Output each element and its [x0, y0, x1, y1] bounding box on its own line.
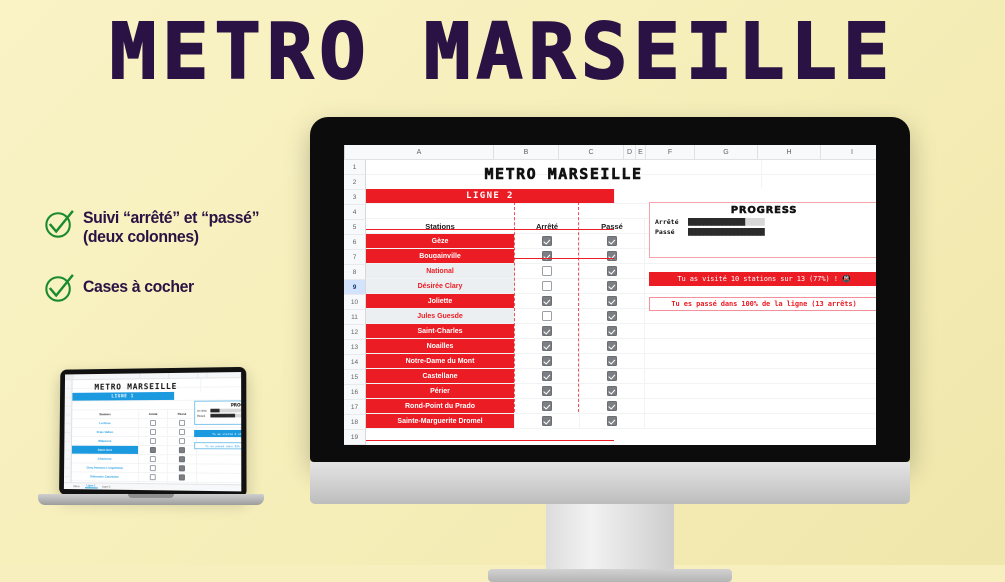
mini-row-header[interactable] — [65, 398, 73, 407]
station-name-cell[interactable]: Gèze — [366, 234, 515, 248]
mini-row-header[interactable] — [64, 442, 72, 451]
row-header-19[interactable]: 19 — [344, 430, 366, 445]
checkbox-icon[interactable] — [607, 356, 617, 366]
station-row: Castellane — [366, 369, 876, 384]
mini-passe-checkbox-cell[interactable] — [168, 437, 197, 445]
mini-arrete-checkbox-cell[interactable] — [139, 464, 168, 472]
mini-progress-title: PROGRESS — [197, 402, 241, 408]
checkbox-icon[interactable] — [150, 420, 156, 426]
progress-bar-filled: ██████ — [210, 409, 219, 413]
mini-sheet-tab[interactable]: Ligne 2 — [100, 485, 112, 488]
laptop-mockup: METRO MARSEILLE LIGNE 1 Stations Arrêté … — [24, 368, 274, 533]
header-stations[interactable]: Stations — [366, 219, 515, 233]
checkbox-icon[interactable] — [607, 236, 617, 246]
checkbox-icon[interactable] — [542, 341, 552, 351]
mini-row-header[interactable] — [64, 424, 72, 433]
checkbox-icon[interactable] — [607, 311, 617, 321]
passe-checkbox-cell[interactable] — [580, 384, 645, 398]
mini-arrete-checkbox-cell[interactable] — [139, 455, 168, 463]
mini-progress-panel: PROGRESS Arrêté████████████████████Passé… — [194, 400, 241, 425]
checkbox-icon[interactable] — [542, 296, 552, 306]
checkbox-icon[interactable] — [607, 386, 617, 396]
progress-label: Passé — [197, 414, 210, 417]
station-name-cell[interactable]: Noailles — [366, 339, 515, 353]
mini-grid: METRO MARSEILLE LIGNE 1 Stations Arrêté … — [64, 378, 241, 491]
row-header-5[interactable]: 5 — [344, 220, 366, 235]
column-header-e[interactable]: E — [636, 145, 646, 159]
checkbox-icon[interactable] — [542, 236, 552, 246]
column-header-f[interactable]: F — [646, 145, 695, 159]
station-name-cell[interactable]: Rond-Point du Prado — [366, 399, 515, 413]
row-header-11[interactable]: 11 — [344, 310, 366, 325]
mini-line-banner[interactable]: LIGNE 1 — [72, 392, 175, 401]
feature-label: Suivi “arrêté” et “passé” (deux colonnes… — [83, 208, 259, 246]
row-header-9[interactable]: 9 — [344, 280, 366, 295]
checkbox-icon[interactable] — [607, 266, 617, 276]
progress-panel: PROGRESS Arrêté████████████████████Passé… — [649, 202, 876, 258]
sheet-row: METRO MARSEILLE — [366, 160, 876, 175]
monitor-screen: A B C D E F G H I 1234567891011121314151… — [344, 145, 876, 445]
arrete-checkbox-cell[interactable] — [515, 384, 580, 398]
progress-row: Arrêté████████████████████ — [197, 408, 241, 413]
sheet-title[interactable]: METRO MARSEILLE — [366, 160, 762, 188]
checkbox-icon[interactable] — [607, 251, 617, 261]
passe-checkbox-cell[interactable] — [580, 414, 645, 428]
checkbox-icon[interactable] — [542, 251, 552, 261]
monitor-chin — [310, 462, 910, 504]
mini-progress-rows: Arrêté████████████████████Passé█████████… — [197, 408, 241, 418]
checkbox-icon[interactable] — [607, 401, 617, 411]
mini-row-header[interactable] — [65, 389, 73, 398]
passe-checkbox-cell[interactable] — [580, 279, 645, 293]
mini-corner[interactable] — [65, 374, 74, 379]
checkbox-icon[interactable] — [179, 474, 185, 480]
checkbox-icon[interactable] — [150, 456, 156, 462]
mini-row-header[interactable] — [65, 415, 73, 424]
monitor-stand-neck — [546, 504, 674, 574]
feature-list: Suivi “arrêté” et “passé” (deux colonnes… — [44, 208, 334, 325]
checkbox-icon[interactable] — [179, 456, 185, 462]
sheet-body: METRO MARSEILLE LIGNE 2 Stations Arrêté … — [366, 160, 876, 445]
mini-station-name-cell[interactable]: Réformés Canebière — [72, 472, 139, 481]
mini-row-header[interactable] — [65, 380, 73, 389]
station-name-cell[interactable]: Notre-Dame du Mont — [366, 354, 515, 368]
sheet-grid: 1234567891011121314151617181920 METRO MA… — [344, 160, 876, 445]
status-message-visited[interactable]: Tu as visité 10 stations sur 13 (77%) ! … — [649, 272, 876, 286]
mini-arrete-checkbox-cell[interactable] — [139, 428, 168, 436]
feature-item: Cases à cocher — [44, 272, 334, 303]
progress-row: Passé████████████████████ — [655, 228, 873, 236]
station-name-cell[interactable]: Joliette — [366, 294, 515, 308]
checkbox-icon[interactable] — [607, 371, 617, 381]
arrete-checkbox-cell[interactable] — [515, 294, 580, 308]
station-row: Périer — [366, 384, 876, 399]
imac-mockup: A B C D E F G H I 1234567891011121314151… — [310, 117, 910, 462]
laptop-spreadsheet: METRO MARSEILLE LIGNE 1 Stations Arrêté … — [64, 372, 241, 491]
progress-bar: ████████████████████ — [210, 413, 241, 417]
column-header-c[interactable]: C — [559, 145, 624, 159]
column-header-row: A B C D E F G H I — [344, 145, 876, 160]
check-circle-icon — [44, 209, 74, 239]
mini-status-message-passed[interactable]: Tu es passé dans 82% de la ligne (14 arr… — [194, 442, 241, 449]
mini-passe-checkbox-cell[interactable] — [168, 464, 197, 472]
mini-station-name-cell[interactable]: Malpassé — [72, 437, 139, 445]
progress-row: Passé████████████████████ — [197, 413, 241, 417]
checkbox-icon[interactable] — [179, 438, 185, 444]
mini-arrete-checkbox-cell[interactable] — [139, 437, 168, 445]
arrete-checkbox-cell[interactable] — [515, 309, 580, 323]
check-circle-icon — [44, 273, 74, 303]
passe-checkbox-cell[interactable] — [580, 369, 645, 383]
progress-bar-filled: ███████████████ — [688, 218, 745, 226]
passe-checkbox-cell[interactable] — [580, 324, 645, 338]
station-row: Sainte-Marguerite Dromel — [366, 414, 876, 429]
progress-bar-filled: ████████████████████ — [688, 228, 764, 236]
arrete-checkbox-cell[interactable] — [515, 324, 580, 338]
row-header-8[interactable]: 8 — [344, 265, 366, 280]
checkbox-icon[interactable] — [607, 416, 617, 426]
station-rows: GèzeBougainvilleNationalDésirée ClaryJol… — [366, 234, 876, 429]
table-bottom-line — [366, 440, 614, 441]
progress-bar: ████████████████████ — [688, 228, 873, 236]
mini-passe-checkbox-cell[interactable] — [168, 455, 197, 463]
arrete-checkbox-cell[interactable] — [515, 369, 580, 383]
station-name-cell[interactable]: Saint-Charles — [366, 324, 515, 338]
passe-checkbox-cell[interactable] — [580, 249, 645, 263]
row-header-16[interactable]: 16 — [344, 385, 366, 400]
checkbox-icon[interactable] — [179, 420, 185, 426]
mini-station-name-cell[interactable]: Saint-Just — [72, 446, 139, 454]
checkbox-icon[interactable] — [542, 371, 552, 381]
row-header-7[interactable]: 7 — [344, 250, 366, 265]
feature-line-1: Suivi “arrêté” et “passé” — [83, 208, 259, 227]
row-header-4[interactable]: 4 — [344, 205, 366, 220]
checkbox-icon[interactable] — [150, 447, 156, 453]
passe-checkbox-cell[interactable] — [580, 294, 645, 308]
checkbox-icon[interactable] — [179, 429, 185, 435]
row-header-3[interactable]: 3 — [344, 190, 366, 205]
row-header-15[interactable]: 15 — [344, 370, 366, 385]
arrete-checkbox-cell[interactable] — [515, 339, 580, 353]
mini-header-passe[interactable]: Passé — [168, 410, 197, 418]
row-header-12[interactable]: 12 — [344, 325, 366, 340]
mini-row-header[interactable] — [64, 459, 72, 468]
row-header-10[interactable]: 10 — [344, 295, 366, 310]
row-header-14[interactable]: 14 — [344, 355, 366, 370]
mini-station-name-cell[interactable]: Frais Vallon — [72, 428, 139, 436]
mini-row-header[interactable] — [64, 468, 72, 477]
arrete-checkbox-cell[interactable] — [515, 399, 580, 413]
progress-row: Arrêté████████████████████ — [655, 218, 873, 226]
line-banner[interactable]: LIGNE 2 — [366, 189, 615, 203]
mini-arrete-checkbox-cell[interactable] — [139, 446, 168, 454]
mini-column-b[interactable] — [140, 373, 169, 378]
mini-body: METRO MARSEILLE LIGNE 1 Stations Arrêté … — [71, 378, 242, 491]
feature-label: Cases à cocher — [83, 272, 194, 296]
checkbox-icon[interactable] — [179, 447, 185, 453]
column-header-d[interactable]: D — [624, 145, 636, 159]
mini-header-stations[interactable]: Stations — [72, 410, 139, 418]
mini-arrete-checkbox-cell[interactable] — [139, 419, 168, 427]
row-header-13[interactable]: 13 — [344, 340, 366, 355]
passe-checkbox-cell[interactable] — [580, 309, 645, 323]
mini-sheet-tabbar: MenuLigne 1Ligne 2 — [64, 482, 241, 491]
mini-column-d[interactable] — [198, 372, 207, 377]
row-header-17[interactable]: 17 — [344, 400, 366, 415]
checkbox-icon[interactable] — [542, 266, 552, 276]
checkbox-icon[interactable] — [150, 429, 156, 435]
column-divider-c — [578, 202, 579, 412]
checkbox-icon[interactable] — [179, 465, 185, 471]
mini-arrete-checkbox-cell[interactable] — [139, 473, 168, 481]
arrete-checkbox-cell[interactable] — [515, 279, 580, 293]
feature-line-1: Cases à cocher — [83, 277, 194, 296]
progress-bar: ████████████████████ — [688, 218, 873, 226]
mini-column-a[interactable] — [74, 373, 141, 379]
column-divider-b — [514, 202, 515, 412]
arrete-checkbox-cell[interactable] — [515, 249, 580, 263]
mini-station-name-cell[interactable]: Colbert — [71, 490, 138, 491]
laptop-base-notch — [128, 494, 174, 498]
arrete-checkbox-cell[interactable] — [515, 354, 580, 368]
column-header-h[interactable]: H — [758, 145, 821, 159]
station-row: Rond-Point du Prado — [366, 399, 876, 414]
header-arrete[interactable]: Arrêté — [515, 219, 580, 233]
station-row: Jules Guesde — [366, 309, 876, 324]
checkbox-icon[interactable] — [542, 356, 552, 366]
mini-passe-checkbox-cell[interactable] — [168, 473, 197, 481]
checkbox-icon[interactable] — [150, 474, 156, 480]
checkbox-icon[interactable] — [607, 341, 617, 351]
passe-checkbox-cell[interactable] — [580, 354, 645, 368]
mini-passe-checkbox-cell[interactable] — [168, 428, 197, 436]
checkbox-icon[interactable] — [607, 281, 617, 291]
station-name-cell[interactable]: Sainte-Marguerite Dromel — [366, 414, 515, 428]
feature-item: Suivi “arrêté” et “passé” (deux colonnes… — [44, 208, 334, 246]
checkbox-icon[interactable] — [542, 326, 552, 336]
spreadsheet: A B C D E F G H I 1234567891011121314151… — [344, 145, 876, 445]
station-name-cell[interactable]: National — [366, 264, 515, 278]
mini-passe-checkbox-cell[interactable] — [168, 446, 197, 454]
passe-checkbox-cell[interactable] — [580, 264, 645, 278]
mini-status-message-visited[interactable]: Tu as visité 5 stations sur 17 (29%) — [194, 430, 241, 437]
mini-row-header[interactable] — [64, 433, 72, 442]
checkbox-icon[interactable] — [542, 401, 552, 411]
passe-checkbox-cell[interactable] — [580, 339, 645, 353]
mini-column-rest[interactable] — [207, 372, 241, 377]
checkbox-icon[interactable] — [542, 416, 552, 426]
mini-column-c[interactable] — [169, 373, 198, 378]
station-row: Notre-Dame du Mont — [366, 354, 876, 369]
status-message-passed[interactable]: Tu es passé dans 100% de la ligne (13 ar… — [649, 297, 876, 311]
row-header-18[interactable]: 18 — [344, 415, 366, 430]
station-name-cell[interactable]: Périer — [366, 384, 515, 398]
checkbox-icon[interactable] — [607, 326, 617, 336]
column-header-a[interactable]: A — [345, 145, 494, 159]
progress-label: Arrêté — [655, 218, 688, 226]
mini-station-name-cell[interactable]: Chartreux — [72, 455, 139, 463]
row-header-6[interactable]: 6 — [344, 235, 366, 250]
laptop-lid: METRO MARSEILLE LIGNE 1 Stations Arrêté … — [59, 367, 246, 498]
station-row: Noailles — [366, 339, 876, 354]
station-name-cell[interactable]: Bougainville — [366, 249, 515, 263]
progress-bar-empty: █████ — [745, 218, 764, 226]
progress-bar: ████████████████████ — [210, 408, 241, 412]
mini-station-name-cell[interactable]: Cinq Avenues Longchamp — [72, 463, 139, 472]
passe-checkbox-cell[interactable] — [580, 399, 645, 413]
arrete-checkbox-cell[interactable] — [515, 234, 580, 248]
station-row: Saint-Charles — [366, 324, 876, 339]
progress-bar-empty: ██████████████ — [220, 409, 242, 413]
mini-row-header[interactable] — [65, 407, 73, 416]
arrete-checkbox-cell[interactable] — [515, 414, 580, 428]
checkbox-icon[interactable] — [150, 438, 156, 444]
header-passe[interactable]: Passé — [580, 219, 645, 233]
promo-title: METRO MARSEILLE — [0, 14, 1005, 91]
checkbox-icon[interactable] — [150, 465, 156, 471]
station-name-cell[interactable]: Castellane — [366, 369, 515, 383]
progress-label: Passé — [655, 228, 688, 236]
progress-bar-filled: ████████████████ — [210, 414, 235, 418]
checkbox-icon[interactable] — [542, 281, 552, 291]
arrete-checkbox-cell[interactable] — [515, 264, 580, 278]
feature-line-2: (deux colonnes) — [83, 227, 199, 246]
mini-row-header[interactable] — [64, 451, 72, 460]
mini-sheet-tab[interactable]: Menu — [72, 485, 82, 488]
row-header-column: 1234567891011121314151617181920 — [344, 160, 366, 445]
passe-checkbox-cell[interactable] — [580, 234, 645, 248]
row-header-2[interactable]: 2 — [344, 175, 366, 190]
checkbox-icon[interactable] — [542, 386, 552, 396]
mini-passe-checkbox-cell[interactable] — [168, 419, 197, 427]
station-name-cell[interactable]: Jules Guesde — [366, 309, 515, 323]
station-name-cell[interactable]: Désirée Clary — [366, 279, 515, 293]
progress-bar-empty: ████ — [235, 414, 241, 418]
mini-sheet-tab[interactable]: Ligne 1 — [85, 484, 98, 488]
mini-header-arrete[interactable]: Arrêté — [139, 410, 168, 418]
progress-rows: Arrêté████████████████████Passé█████████… — [655, 218, 873, 236]
column-header-i[interactable]: I — [821, 145, 876, 159]
laptop-screen: METRO MARSEILLE LIGNE 1 Stations Arrêté … — [64, 372, 241, 491]
column-header-g[interactable]: G — [695, 145, 758, 159]
monitor-stand-foot — [488, 569, 732, 582]
checkbox-icon[interactable] — [542, 311, 552, 321]
table-header-underline — [366, 258, 614, 259]
progress-label: Arrêté — [197, 409, 210, 412]
row-header-1[interactable]: 1 — [344, 160, 366, 175]
column-header-b[interactable]: B — [494, 145, 559, 159]
progress-title: PROGRESS — [655, 205, 873, 216]
checkbox-icon[interactable] — [607, 296, 617, 306]
mini-station-name-cell[interactable]: La Rose — [72, 419, 139, 427]
banner-underline — [366, 229, 614, 230]
